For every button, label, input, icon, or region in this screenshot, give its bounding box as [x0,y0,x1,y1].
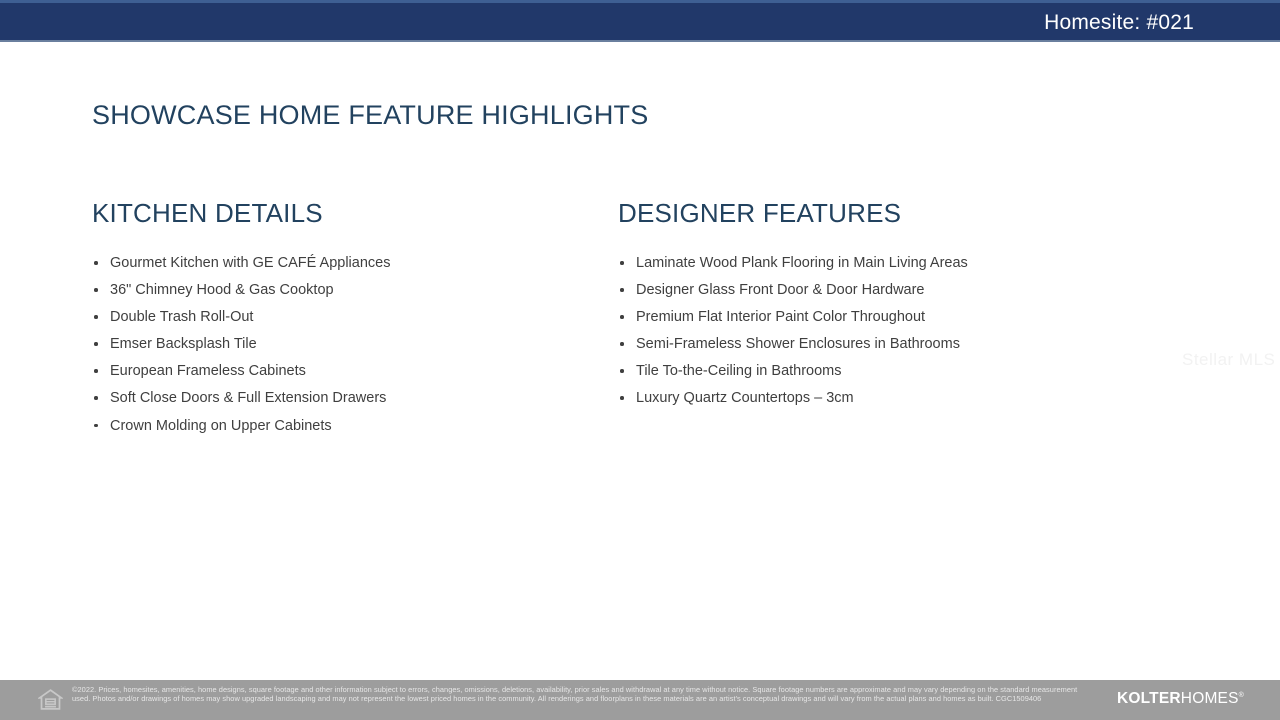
list-item: Luxury Quartz Countertops – 3cm [618,391,1178,406]
bullet-icon [620,315,624,319]
column-heading-designer: DESIGNER FEATURES [618,198,1178,229]
column-kitchen-details: KITCHEN DETAILS Gourmet Kitchen with GE … [92,198,592,446]
list-item: Gourmet Kitchen with GE CAFÉ Appliances [92,256,592,271]
list-item-label: 36" Chimney Hood & Gas Cooktop [110,282,334,298]
bullet-icon [94,424,98,428]
logo-bold-text: KOLTER [1117,690,1181,707]
kitchen-feature-list: Gourmet Kitchen with GE CAFÉ Appliances … [92,256,592,433]
column-heading-kitchen: KITCHEN DETAILS [92,198,592,229]
list-item-label: Soft Close Doors & Full Extension Drawer… [110,390,386,406]
list-item: Crown Molding on Upper Cabinets [92,419,592,434]
homesite-label: Homesite: #021 [1044,12,1194,33]
bullet-icon [94,288,98,292]
bullet-icon [94,396,98,400]
list-item: Soft Close Doors & Full Extension Drawer… [92,391,592,406]
kolter-homes-logo: KOLTERHOMES® [1117,690,1244,708]
list-item: Emser Backsplash Tile [92,337,592,352]
bullet-icon [620,396,624,400]
bullet-icon [620,288,624,292]
logo-registered-mark: ® [1239,692,1244,699]
bullet-icon [620,342,624,346]
list-item-label: Gourmet Kitchen with GE CAFÉ Appliances [110,255,390,271]
bullet-icon [94,261,98,265]
equal-housing-opportunity-icon [38,687,63,712]
list-item-label: Double Trash Roll-Out [110,309,253,325]
designer-feature-list: Laminate Wood Plank Flooring in Main Liv… [618,256,1178,406]
bullet-icon [94,369,98,373]
bullet-icon [94,342,98,346]
bullet-icon [620,261,624,265]
logo-light-text: HOMES [1181,690,1239,707]
list-item-label: Designer Glass Front Door & Door Hardwar… [636,282,925,298]
bullet-icon [94,315,98,319]
list-item-label: Laminate Wood Plank Flooring in Main Liv… [636,255,968,271]
list-item-label: Luxury Quartz Countertops – 3cm [636,390,854,406]
footer-disclaimer: ©2022. Prices, homesites, amenities, hom… [72,685,1082,703]
list-item: Designer Glass Front Door & Door Hardwar… [618,283,1178,298]
bullet-icon [620,369,624,373]
list-item-label: European Frameless Cabinets [110,363,306,379]
list-item: European Frameless Cabinets [92,364,592,379]
list-item-label: Semi-Frameless Shower Enclosures in Bath… [636,336,960,352]
stellar-mls-watermark: Stellar MLS [1182,350,1275,370]
list-item-label: Premium Flat Interior Paint Color Throug… [636,309,925,325]
list-item: Double Trash Roll-Out [92,310,592,325]
list-item-label: Emser Backsplash Tile [110,336,257,352]
top-header-band: Homesite: #021 [0,0,1280,42]
page-title: SHOWCASE HOME FEATURE HIGHLIGHTS [92,100,648,131]
column-designer-features: DESIGNER FEATURES Laminate Wood Plank Fl… [618,198,1178,419]
list-item: 36" Chimney Hood & Gas Cooktop [92,283,592,298]
list-item: Tile To-the-Ceiling in Bathrooms [618,364,1178,379]
list-item: Premium Flat Interior Paint Color Throug… [618,310,1178,325]
list-item-label: Crown Molding on Upper Cabinets [110,418,332,434]
list-item: Semi-Frameless Shower Enclosures in Bath… [618,337,1178,352]
list-item-label: Tile To-the-Ceiling in Bathrooms [636,363,842,379]
list-item: Laminate Wood Plank Flooring in Main Liv… [618,256,1178,271]
